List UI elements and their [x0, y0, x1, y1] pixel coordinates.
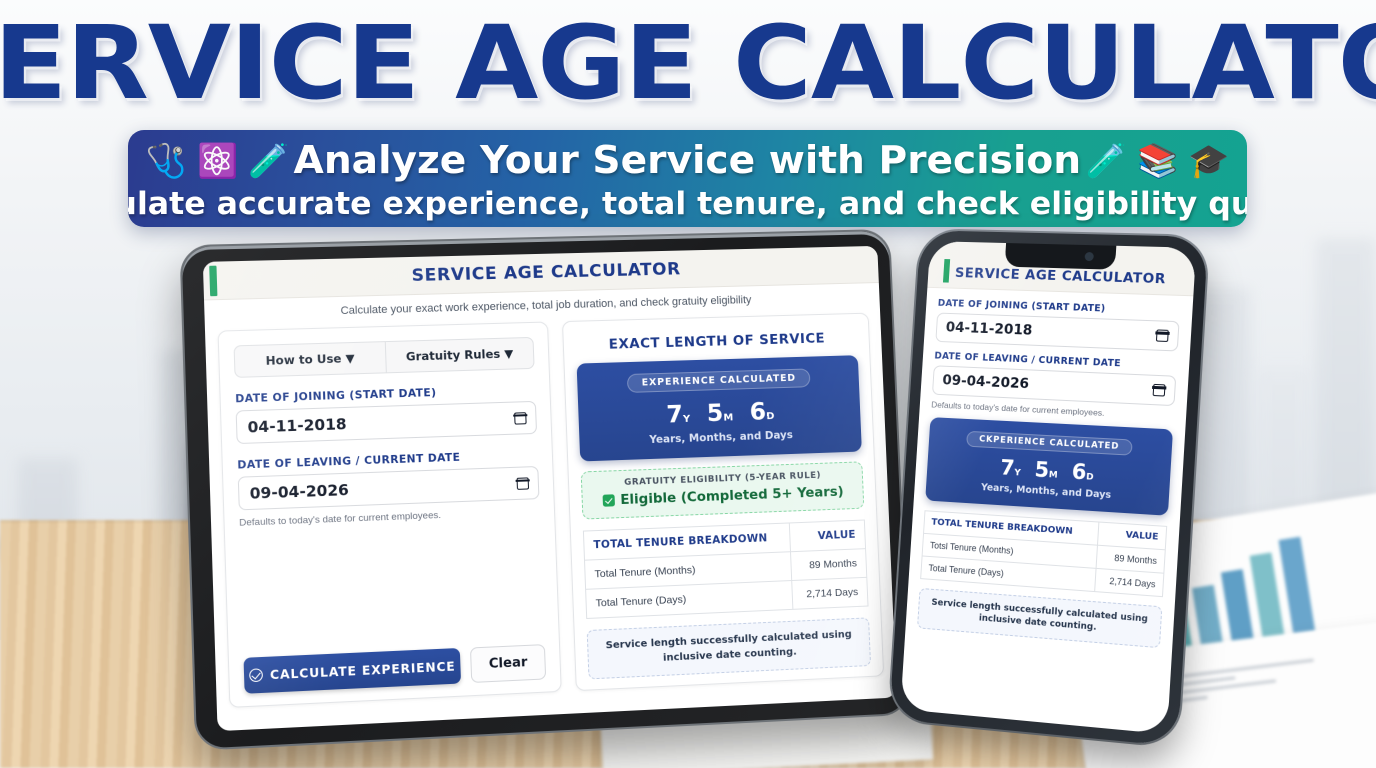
accent-bar: [209, 266, 217, 297]
form-actions: CALCULATE EXPERIENCE Clear: [243, 644, 546, 694]
phone-days-value: 6D: [1071, 459, 1095, 484]
calendar-icon[interactable]: [516, 477, 529, 489]
phone-joining-date-value: 04-11-2018: [945, 320, 1033, 339]
leaving-date-hint: Defaults to today's date for current emp…: [239, 506, 540, 529]
phone-joining-date-input[interactable]: 04-11-2018: [935, 313, 1179, 352]
input-panel: How to Use ▼ Gratuity Rules ▼ DATE OF JO…: [217, 321, 561, 707]
leaving-date-input[interactable]: 09-04-2026: [238, 466, 540, 510]
phone-app-body: DATE OF JOINING (START DATE) 04-11-2018 …: [905, 288, 1193, 659]
phone-notch: [1005, 243, 1117, 270]
app-panels: How to Use ▼ Gratuity Rules ▼ DATE OF JO…: [205, 306, 896, 718]
calculate-button-label: CALCULATE EXPERIENCE: [270, 659, 456, 682]
row-value: 2,714 Days: [792, 577, 868, 609]
phone-experience-card: CKPERIENCE CALCULATED 7Y 5M 6D Years, Mo…: [925, 417, 1173, 516]
results-panel: EXACT LENGTH OF SERVICE EXPERIENCE CALCU…: [562, 313, 884, 691]
phone-screen[interactable]: SERVICE AGE CALCULATOR DATE OF JOINING (…: [900, 241, 1196, 734]
info-tabs: How to Use ▼ Gratuity Rules ▼: [234, 337, 535, 378]
gratuity-status-text: Eligible (Completed 5+ Years): [620, 484, 844, 508]
books-icon: 📚: [1137, 144, 1178, 177]
calculate-experience-button[interactable]: CALCULATE EXPERIENCE: [243, 648, 461, 694]
banner-bottom-row: Calculate accurate experience, total ten…: [128, 182, 1247, 226]
banner-top-row: 🩺 ⚛️ 🧪 Analyze Your Service with Precisi…: [128, 135, 1247, 185]
tab-gratuity-rules[interactable]: Gratuity Rules ▼: [384, 338, 533, 372]
page-title: SERVICE AGE CALCULATOR: [0, 5, 1376, 122]
clear-button[interactable]: Clear: [470, 644, 546, 683]
calendar-icon[interactable]: [1156, 329, 1169, 342]
tab-how-to-use[interactable]: How to Use ▼: [235, 342, 386, 377]
row-value: 89 Months: [790, 549, 866, 581]
phone-months-value: 5M: [1034, 457, 1059, 482]
column-header-value: VALUE: [789, 520, 865, 552]
joining-date-input[interactable]: 04-11-2018: [236, 401, 537, 444]
phone-results-note: Service length successfully calculated u…: [917, 588, 1162, 648]
phone-leaving-date-value: 09-04-2026: [942, 373, 1030, 393]
joining-date-value: 04-11-2018: [247, 415, 347, 437]
months-value: 5M: [706, 399, 733, 428]
phone-device: SERVICE AGE CALCULATOR DATE OF JOINING (…: [889, 230, 1208, 746]
atom-icon: ⚛️: [197, 144, 238, 177]
experience-badge: EXPERIENCE CALCULATED: [626, 368, 810, 393]
row-value: 2,714 Days: [1094, 568, 1164, 596]
lab-flask-icon: 🧪: [248, 144, 289, 177]
banner-title: Analyze Your Service with Precision: [294, 138, 1082, 182]
tenure-breakdown-table: TOTAL TENURE BREAKDOWN VALUE Total Tenur…: [583, 520, 869, 619]
tablet-device: SERVICE AGE CALCULATOR Calculate your ex…: [179, 229, 911, 751]
gratuity-eligibility-box: GRATUITY ELIGIBILITY (5-YEAR RULE) Eligi…: [581, 461, 865, 519]
calendar-icon[interactable]: [1153, 384, 1166, 397]
days-value: 6D: [749, 397, 775, 425]
tablet-screen[interactable]: SERVICE AGE CALCULATOR Calculate your ex…: [203, 246, 897, 731]
check-box-icon: [602, 494, 614, 506]
phone-tenure-table: TOTAL TENURE BREAKDOWN VALUE Totsl Tenur…: [920, 510, 1167, 597]
experience-units-caption: Years, Months, and Days: [589, 427, 851, 448]
experience-values: 7Y 5M 6D: [588, 395, 851, 431]
phone-experience-badge: CKPERIENCE CALCULATED: [966, 431, 1133, 456]
accent-bar: [943, 259, 950, 283]
experience-card: EXPERIENCE CALCULATED 7Y 5M 6D Years, Mo…: [577, 355, 862, 461]
check-circle-icon: [249, 668, 263, 682]
years-value: 7Y: [666, 400, 691, 429]
phone-leaving-date-input[interactable]: 09-04-2026: [932, 365, 1176, 406]
graduation-cap-icon: 🎓: [1188, 144, 1229, 177]
banner-subtitle: Calculate accurate experience, total ten…: [128, 186, 1247, 222]
app-title: SERVICE AGE CALCULATOR: [411, 259, 681, 286]
results-note: Service length successfully calculated u…: [587, 617, 871, 679]
calendar-icon[interactable]: [514, 412, 527, 424]
banner-right-icons: 🧪 📚 🎓: [1086, 144, 1229, 177]
stethoscope-icon: 🩺: [146, 144, 187, 177]
phone-years-value: 7Y: [1000, 455, 1022, 480]
hero-banner: 🩺 ⚛️ 🧪 Analyze Your Service with Precisi…: [128, 130, 1247, 227]
leaving-date-value: 09-04-2026: [249, 480, 349, 502]
test-tubes-icon: 🧪: [1086, 144, 1127, 177]
banner-left-icons: 🩺 ⚛️ 🧪: [146, 144, 289, 177]
